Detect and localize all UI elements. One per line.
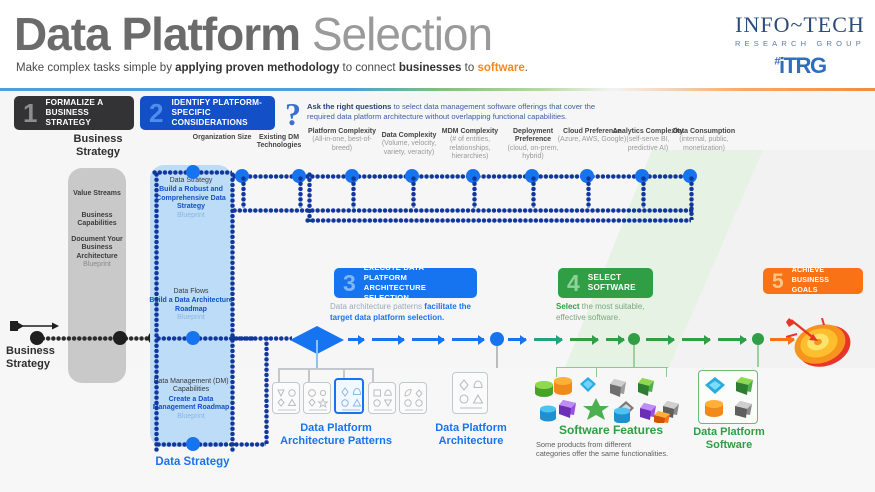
caption-features: Software Features — [536, 424, 686, 437]
caption-architecture: Data Platform Architecture — [424, 422, 518, 448]
software-feature-shapes — [530, 373, 690, 423]
bs-item-2-label: Document Your Business Architecture — [71, 236, 122, 260]
shape-cube-purple2 — [640, 403, 656, 420]
architecture-stem — [496, 346, 498, 368]
step-1-label-line1: FORMALIZE A — [45, 98, 125, 108]
ds-left-rail — [152, 172, 161, 452]
caption-features-sub: Some products from different categories … — [536, 440, 696, 458]
step-4-desc-highlight: Select — [556, 302, 580, 311]
flow-arrow-5 — [508, 338, 526, 341]
step-4-label-line2: SOFTWARE — [588, 283, 636, 293]
rail-connector-8 — [687, 176, 696, 208]
data-strategy-label: Data Strategy — [140, 456, 245, 468]
step-4-number: 4 — [567, 272, 580, 295]
rail-connector-6 — [584, 176, 593, 208]
page-subtitle: Make complex tasks simple by applying pr… — [16, 62, 528, 74]
step-5-number: 5 — [772, 271, 784, 292]
shape-cylinder-blue — [540, 406, 556, 422]
consideration-label-2: Platform Complexity (All-in-one, best-of… — [306, 128, 378, 153]
header: Data Platform Selection Make complex tas… — [0, 0, 875, 88]
flow-arrow-9 — [646, 338, 674, 341]
pattern-card-4[interactable] — [368, 382, 396, 414]
shape-cylinder-green — [535, 381, 553, 397]
shape-cylinder-blue2 — [614, 408, 630, 424]
logo-wordmark: INFO~TECH — [735, 12, 865, 38]
consideration-label-8: Data Consumption (internal, public, mone… — [668, 128, 740, 153]
flow-arrow-6 — [534, 338, 562, 341]
pattern-card-4-glyphs — [369, 383, 397, 415]
step-5-label-line2: BUSINESS GOALS — [792, 276, 854, 296]
step-3-description: Data architecture patterns facilitate th… — [330, 302, 490, 323]
flow-node-architecture — [490, 332, 504, 346]
callout-bold: Ask the right questions — [307, 102, 391, 111]
subtitle-period: . — [525, 62, 528, 74]
target-coin-icon — [786, 318, 854, 370]
pattern-card-1[interactable] — [272, 382, 300, 414]
flow-node-features — [628, 333, 640, 345]
diamond-stem — [316, 340, 318, 368]
infographic-canvas: Data Platform Selection Make complex tas… — [0, 0, 875, 492]
bs-heading-line2: Strategy — [62, 146, 134, 159]
subtitle-to: to — [461, 62, 477, 74]
subtitle-bold-1: applying proven methodology — [175, 62, 339, 74]
consideration-8-title: Data Consumption — [668, 128, 740, 136]
flow-arrow-10 — [682, 338, 710, 341]
architecture-card-glyphs — [453, 373, 489, 415]
consideration-8-sub: (internal, public, monetization) — [668, 136, 740, 153]
bs-item-1-label: Business Capabilities — [77, 212, 116, 227]
bs-bottom-line1: Business — [6, 345, 82, 358]
features-stem — [633, 345, 635, 367]
ds-item-2-blueprint: Blueprint — [177, 413, 205, 420]
step-2-number: 2 — [149, 100, 163, 126]
pattern-card-2[interactable] — [303, 382, 331, 414]
step-1-number: 1 — [23, 100, 37, 126]
subtitle-bold-2: businesses — [399, 62, 462, 74]
consideration-label-1: Existing DM Technologies — [243, 134, 315, 151]
software-card-shapes — [699, 371, 759, 425]
page-title: Data Platform Selection — [14, 8, 492, 60]
subtitle-pre: Make complex tasks simple by — [16, 62, 175, 74]
flow-node-software — [752, 333, 764, 345]
pattern-card-2-glyphs — [304, 383, 332, 415]
consideration-5-sub: (cloud, on-prem, hybrid) — [497, 145, 569, 162]
rail-connector-4 — [470, 176, 479, 208]
pattern-bracket-top — [278, 368, 374, 370]
step-3-number: 3 — [343, 272, 356, 295]
step-badge-2[interactable]: 2 IDENTIFY PLATFORM- SPECIFIC CONSIDERAT… — [140, 96, 275, 130]
step-2-label-line1: IDENTIFY PLATFORM- — [171, 98, 266, 108]
pattern-card-1-glyphs — [273, 383, 301, 415]
bs-item-0: Value Streams — [68, 190, 126, 198]
consideration-4-sub: (# of entities, relationships, hierarchi… — [434, 136, 506, 161]
ds-mid-node — [186, 331, 200, 345]
pattern-card-selected-glyphs — [336, 380, 366, 416]
caption-patterns-line1: Data Platform — [266, 422, 406, 435]
step-2-label-line2: SPECIFIC CONSIDERATIONS — [171, 108, 266, 128]
caption-features-sub-line1: Some products from different — [536, 440, 696, 449]
subtitle-mid: to connect — [339, 62, 398, 74]
bs-heading-line1: Business — [62, 133, 134, 146]
rail-connector-1 — [296, 176, 305, 208]
pattern-card-5-glyphs — [400, 383, 428, 415]
shape-cube-green2 — [638, 378, 654, 396]
business-strategy-bottom-label: Business Strategy — [6, 345, 82, 371]
ds-top-node — [186, 165, 200, 179]
ds-item-0-blueprint: Blueprint — [177, 212, 205, 219]
software-stem — [757, 345, 759, 367]
step-5-label: ACHIEVE BUSINESS GOALS — [792, 266, 854, 296]
step-5-label-line1: ACHIEVE — [792, 266, 854, 276]
step-4-label: SELECT SOFTWARE — [588, 273, 636, 293]
bs-item-1: Business Capabilities — [68, 212, 126, 229]
caption-software-line1: Data Platform — [686, 426, 772, 439]
architecture-card[interactable] — [452, 372, 488, 414]
spine-node-start — [30, 331, 44, 345]
flow-arrow-8 — [606, 338, 624, 341]
page-title-bold: Data Platform — [14, 8, 300, 60]
itrg-wordmark: iTRG — [779, 53, 826, 78]
step-3-desc-pre: Data architecture patterns — [330, 302, 424, 311]
step-1-label-line2: BUSINESS STRATEGY — [45, 108, 125, 128]
rail-connector-0 — [239, 176, 248, 208]
spine-node-mid — [113, 331, 127, 345]
pattern-bracket-left-drop — [278, 368, 280, 382]
caption-software-line2: Software — [686, 439, 772, 452]
pattern-drop-5 — [372, 368, 374, 382]
caption-features-sub-line2: categories offer the same functionalitie… — [536, 449, 696, 458]
return-rail — [305, 216, 691, 225]
features-bracket-top — [556, 367, 668, 368]
pattern-card-5[interactable] — [399, 382, 427, 414]
pattern-card-selected[interactable] — [334, 378, 364, 414]
step-badge-3[interactable]: 3 EXECUTE DATA PLATFORM ARCHITECTURE SEL… — [334, 268, 477, 298]
caption-patterns-line2: Architecture Patterns — [266, 435, 406, 448]
step-3-desc-post: . — [442, 313, 444, 322]
rail-connector-5 — [529, 176, 538, 208]
return-rail-up — [305, 172, 314, 222]
bs-item-0-label: Value Streams — [73, 190, 121, 197]
step-badge-5[interactable]: 5 ACHIEVE BUSINESS GOALS — [763, 268, 863, 294]
flow-arrow-4 — [452, 338, 484, 341]
flow-arrow-11 — [718, 338, 746, 341]
flow-arrow-1 — [348, 338, 364, 341]
consideration-label-4: MDM Complexity (# of entities, relations… — [434, 128, 506, 162]
question-mark-icon: ? — [285, 96, 301, 133]
caption-software: Data Platform Software — [686, 426, 772, 452]
ds-to-diamond-rail — [232, 334, 292, 343]
page-title-light: Selection — [312, 8, 492, 60]
ds-bottom-node — [186, 437, 200, 451]
step-1-label: FORMALIZE A BUSINESS STRATEGY — [45, 98, 125, 128]
ds-item-1-blueprint: Blueprint — [177, 314, 205, 321]
shape-cube-grey — [610, 379, 626, 397]
consideration-2-sub: (All-in-one, best-of-breed) — [306, 136, 378, 153]
flow-arrow-3 — [412, 338, 444, 341]
callout-text: Ask the right questions to select data m… — [307, 102, 617, 122]
ds-right-rail — [228, 172, 237, 452]
main-spine-dark — [30, 334, 154, 343]
software-card[interactable] — [698, 370, 758, 424]
header-divider — [0, 88, 875, 91]
consideration-4-title: MDM Complexity — [434, 128, 506, 136]
info-tech-logo: INFO~TECH RESEARCH GROUP #iTRG — [735, 12, 865, 79]
itrg-logo: #iTRG — [735, 53, 865, 79]
shape-cylinder-orange — [554, 377, 572, 395]
step-badge-1[interactable]: 1 FORMALIZE A BUSINESS STRATEGY — [14, 96, 134, 130]
subtitle-bold-3: software — [477, 62, 524, 74]
rail-connector-3 — [409, 176, 418, 208]
consideration-2-title: Platform Complexity — [306, 128, 378, 136]
bs-item-2: Document Your Business Architecture Blue… — [68, 236, 126, 270]
step-2-label: IDENTIFY PLATFORM- SPECIFIC CONSIDERATIO… — [171, 98, 266, 128]
consideration-1-title: Existing DM Technologies — [243, 134, 315, 151]
step-3-label: EXECUTE DATA PLATFORM ARCHITECTURE SELEC… — [364, 263, 468, 303]
ds-bottom-rail — [156, 440, 266, 449]
business-strategy-arrow-icon — [8, 320, 60, 332]
step-3-label-line1: EXECUTE DATA PLATFORM — [364, 263, 468, 283]
business-strategy-heading: Business Strategy — [62, 133, 134, 159]
shape-star-green — [583, 398, 609, 420]
flow-arrow-2 — [372, 338, 404, 341]
caption-patterns: Data Platform Architecture Patterns — [266, 422, 406, 448]
pattern-drop-2 — [308, 368, 310, 382]
step-4-description: Select the most suitable, effective soft… — [556, 302, 676, 323]
step-4-label-line1: SELECT — [588, 273, 636, 283]
rail-connector-7 — [639, 176, 648, 208]
rail-connector-2 — [349, 176, 358, 208]
caption-architecture-line1: Data Platform — [424, 422, 518, 435]
bs-bottom-line2: Strategy — [6, 358, 82, 371]
shape-cube-purple — [559, 400, 576, 418]
caption-architecture-line2: Architecture — [424, 435, 518, 448]
bs-item-2-blueprint: Blueprint — [68, 261, 126, 269]
step-3-label-line2: ARCHITECTURE SELECTION — [364, 283, 468, 303]
flow-arrow-7 — [570, 338, 598, 341]
logo-tagline: RESEARCH GROUP — [735, 39, 865, 48]
step-badge-4[interactable]: 4 SELECT SOFTWARE — [558, 268, 653, 298]
